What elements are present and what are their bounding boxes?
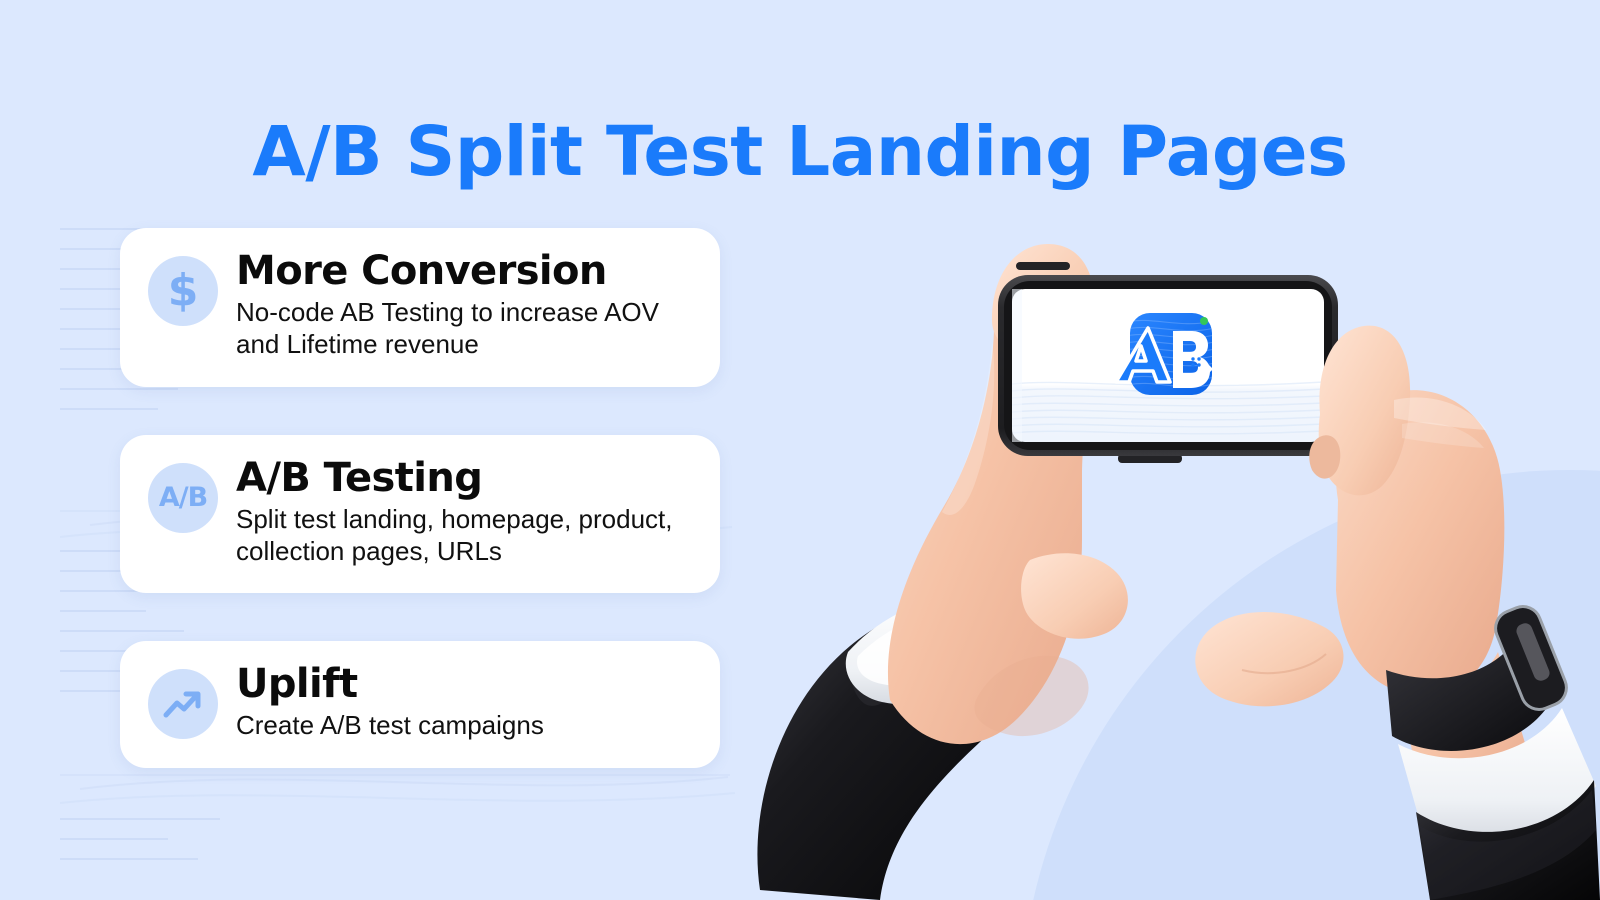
trending-up-icon-glyph <box>163 688 203 720</box>
feature-card-body: Uplift Create A/B test campaigns <box>236 663 692 742</box>
phone[interactable] <box>998 262 1338 463</box>
feature-card-description: Split test landing, homepage, product, c… <box>236 504 692 567</box>
feature-card-body: More Conversion No-code AB Testing to in… <box>236 250 692 361</box>
feature-card-body: A/B Testing Split test landing, homepage… <box>236 457 692 568</box>
feature-card-title: A/B Testing <box>236 457 692 500</box>
feature-card-more-conversion[interactable]: $ More Conversion No-code AB Testing to … <box>120 228 720 387</box>
app-icon-status-dot <box>1200 317 1208 325</box>
feature-card-title: Uplift <box>236 663 692 706</box>
poster-canvas: A/B Split Test Landing Pages $ More Conv… <box>0 0 1600 900</box>
feature-card-description: Create A/B test campaigns <box>236 710 692 742</box>
hands-holding-phone-illustration <box>730 0 1600 900</box>
feature-card-list: $ More Conversion No-code AB Testing to … <box>120 228 720 768</box>
feature-card-ab-testing[interactable]: A/B A/B Testing Split test landing, home… <box>120 435 720 594</box>
ab-icon: A/B <box>148 463 218 533</box>
dollar-icon-glyph: $ <box>168 269 199 313</box>
feature-card-description: No-code AB Testing to increase AOV and L… <box>236 297 692 360</box>
dollar-icon: $ <box>148 256 218 326</box>
ab-icon-glyph: A/B <box>159 484 207 511</box>
feature-card-title: More Conversion <box>236 250 692 293</box>
feature-card-uplift[interactable]: Uplift Create A/B test campaigns <box>120 641 720 768</box>
trending-up-icon <box>148 669 218 739</box>
right-hand-thumb <box>1195 612 1343 706</box>
